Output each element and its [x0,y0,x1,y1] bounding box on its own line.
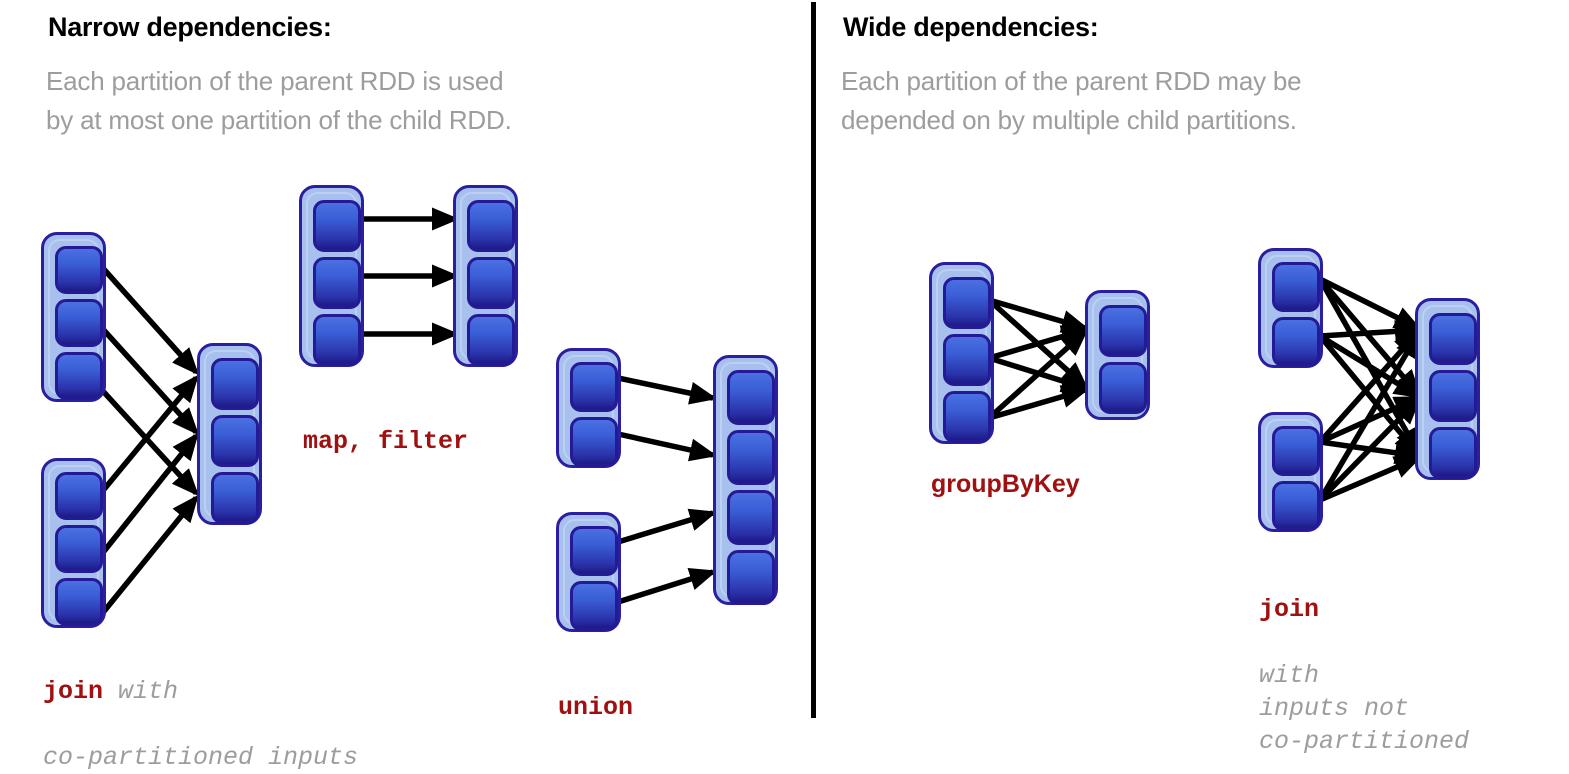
partition [943,277,991,329]
caption-op-label: join [43,677,103,706]
partition [211,358,259,410]
partition [55,246,103,294]
partition [943,334,991,386]
partition [467,200,515,252]
arrow-group-map-filter [362,219,455,334]
partition [1272,426,1320,476]
wide-dependencies-description: Each partition of the parent RDD may be … [841,62,1551,140]
partition [55,525,103,573]
partition [467,257,515,309]
partition [1272,317,1320,367]
partition [1429,313,1477,365]
caption-join-wide: join with inputs not co-partitioned [1259,560,1469,758]
caption-note-below: co-partitioned inputs [43,743,358,772]
partition [570,362,618,412]
partition [313,200,361,252]
partition [1099,362,1147,414]
partition [55,472,103,520]
rdd-join-narrow-parent-b [41,458,106,628]
diagram-canvas: Narrow dependencies: Each partition of t… [0,0,1569,742]
rdd-join-wide-child [1415,298,1480,480]
partition [570,581,618,631]
rdd-group-by-key-child [1085,290,1150,420]
rdd-union-child [713,355,778,605]
caption-group-by-key: groupByKey [931,470,1080,499]
narrow-dependencies-title: Narrow dependencies: [48,12,332,43]
partition [1429,370,1477,422]
partition [727,490,775,545]
rdd-map-filter-child [453,185,518,367]
partition [467,314,515,366]
partition [570,417,618,467]
caption-op-label: join [1259,595,1319,624]
partition [1429,427,1477,479]
arrow-group-join-narrow [101,266,196,615]
partition [55,352,103,400]
rdd-union-parent-b [556,512,621,632]
partition [211,472,259,524]
caption-union: union [558,658,633,724]
rdd-union-parent-a [556,348,621,468]
rdd-group-by-key-parent [929,262,994,444]
partition [55,578,103,626]
wide-dependencies-title: Wide dependencies: [843,12,1098,43]
partition [313,314,361,366]
partition [943,391,991,443]
column-divider [811,2,816,718]
partition [570,526,618,576]
partition [55,299,103,347]
partition [313,257,361,309]
caption-map-filter: map, filter [303,392,468,458]
caption-op-label: union [558,693,633,722]
arrow-group-union [618,378,713,602]
rdd-join-wide-parent-b [1258,412,1323,532]
partition [1272,481,1320,531]
partition [1099,305,1147,357]
arrow-group-join-wide [1320,279,1418,500]
partition [211,415,259,467]
rdd-join-narrow-child [197,343,262,525]
caption-op-label: map, filter [303,427,468,456]
arrow-group-group-by-key [989,300,1085,418]
rdd-join-narrow-parent-a [41,232,106,402]
narrow-dependencies-description: Each partition of the parent RDD is used… [46,62,776,140]
caption-note-inline: with [103,677,178,706]
rdd-map-filter-parent [299,185,364,367]
partition [727,430,775,485]
partition [727,550,775,605]
partition [1272,262,1320,312]
caption-join-narrow: join with co-partitioned inputs [43,642,358,774]
partition [727,370,775,425]
rdd-join-wide-parent-a [1258,248,1323,368]
